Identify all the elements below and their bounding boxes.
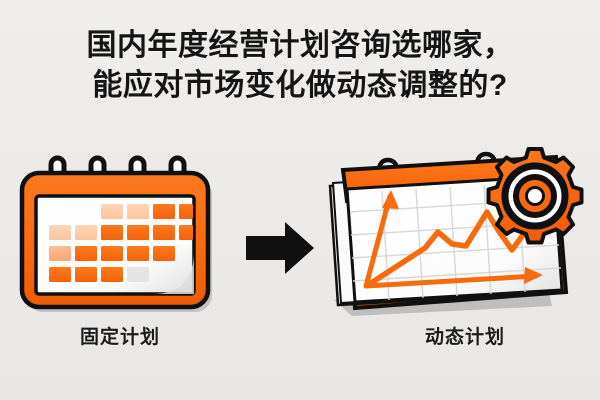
chart-board-back [349, 166, 566, 308]
chart-gridlines [350, 183, 561, 300]
transition-arrow [246, 222, 314, 274]
trend-arrow-head [528, 212, 548, 231]
axis-arrow-up [382, 190, 399, 209]
headline-line-1: 国内年度经营计划咨询选哪家， [0, 26, 600, 66]
calendar-body [22, 173, 208, 307]
calendar-rings [51, 158, 184, 188]
calendar-grid [49, 204, 193, 282]
chart-board-header [343, 157, 560, 201]
chart-axes [366, 196, 536, 286]
trend-line [368, 212, 540, 285]
axis-arrow-right [524, 267, 543, 284]
dynamic-plan-chart-icon [330, 149, 582, 316]
page-title: 国内年度经营计划咨询选哪家， 能应对市场变化做动态调整的? [0, 26, 600, 105]
chart-rings [379, 154, 496, 178]
headline-line-2: 能应对市场变化做动态调整的? [0, 66, 600, 106]
dynamic-plan-label: 动态计划 [370, 322, 560, 349]
poster-canvas: 国内年度经营计划咨询选哪家， 能应对市场变化做动态调整的? [0, 0, 600, 400]
fixed-calendar-icon [22, 158, 212, 312]
chart-page [347, 176, 562, 302]
fixed-plan-label: 固定计划 [20, 322, 220, 349]
calendar-page [36, 196, 194, 294]
gear-icon [489, 149, 582, 243]
